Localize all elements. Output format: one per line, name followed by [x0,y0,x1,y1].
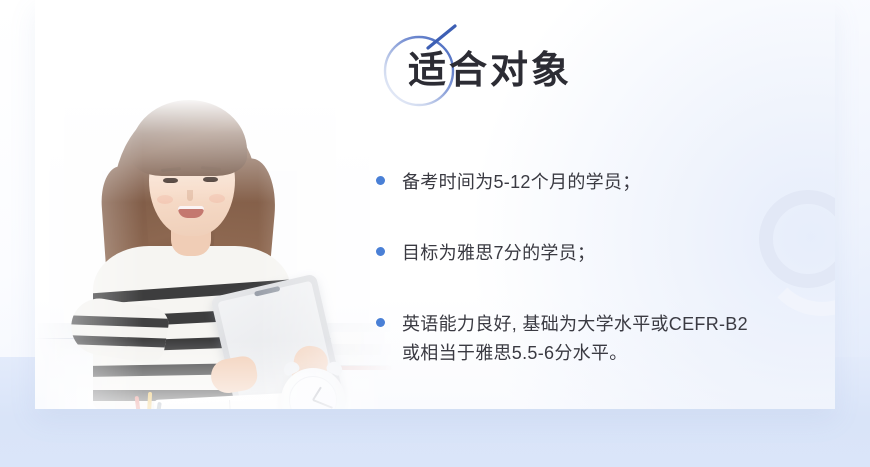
slide-root: 适合对象 备考时间为5-12个月的学员； 目标为雅思7分的学员； 英语能力良好,… [0,0,870,467]
list-item: 目标为雅思7分的学员； [376,239,816,268]
eye-right [203,177,218,182]
list-item-line-1: 英语能力良好, 基础为大学水平或CEFR-B2 [402,314,748,334]
list-item: 英语能力良好, 基础为大学水平或CEFR-B2 或相当于雅思5.5-6分水平。 [376,310,816,368]
photo-canvas [35,96,395,409]
page-title: 适合对象 [408,46,572,96]
list-item: 备考时间为5-12个月的学员； [376,168,816,197]
cheek-left [157,195,173,204]
bullet-list: 备考时间为5-12个月的学员； 目标为雅思7分的学员； 英语能力良好, 基础为大… [376,168,816,368]
cheek-right [209,194,225,203]
nose [187,190,193,201]
hair-top [131,100,247,176]
alarm-clock-icon [281,368,345,409]
clock-minute-hand [313,399,333,409]
bullet-dot-icon [376,176,385,185]
list-item-label: 备考时间为5-12个月的学员； [402,168,641,197]
student-photo [35,96,395,409]
list-item-label: 目标为雅思7分的学员； [402,239,595,268]
list-item-line-2: 或相当于雅思5.5-6分水平。 [402,343,628,363]
tablet-camera-strip [254,286,280,297]
sleeve-stripe [67,315,171,329]
eye-left [163,178,178,183]
bullet-dot-icon [376,318,385,327]
bullet-dot-icon [376,247,385,256]
content-card: 适合对象 备考时间为5-12个月的学员； 目标为雅思7分的学员； 英语能力良好,… [35,0,835,409]
sleeve-stripe [67,335,171,349]
page-title-block: 适合对象 [380,32,780,114]
list-item-label: 英语能力良好, 基础为大学水平或CEFR-B2 或相当于雅思5.5-6分水平。 [402,310,748,368]
